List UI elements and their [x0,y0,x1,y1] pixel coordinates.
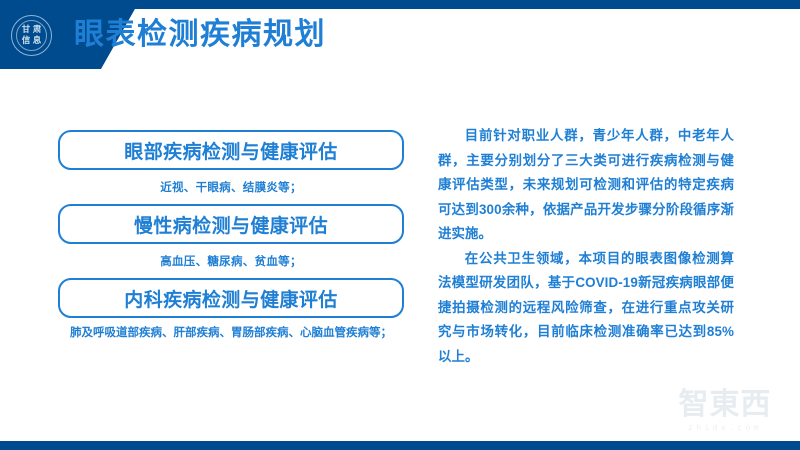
page-title: 眼表检测疾病规划 [74,17,326,53]
category-caption-chronic-disease: 高血压、糖尿病、贫血等； [58,253,404,269]
seal-inner-ring: 甘 肃 信 息 [16,20,47,51]
seal-glyph-grid: 甘 肃 信 息 [21,25,43,47]
category-box-chronic-disease: 慢性病检测与健康评估 [58,204,404,244]
description-paragraph-1: 目前针对职业人群，青少年人群，中老年人群，主要分别划分了三大类可进行疾病检测与健… [438,124,734,247]
category-box-label: 眼部疾病检测与健康评估 [124,137,337,164]
category-box-label: 内科疾病检测与健康评估 [124,285,337,312]
university-seal-logo: 甘 肃 信 息 [11,15,52,56]
seal-glyph-1: 甘 [21,25,32,36]
category-caption-eye-disease: 近视、干眼病、结膜炎等； [58,179,404,195]
slide-canvas: 甘 肃 信 息 眼表检测疾病规划 眼部疾病检测与健康评估 近视、干眼病、结膜炎等… [0,0,800,450]
category-box-label: 慢性病检测与健康评估 [134,211,328,238]
seal-glyph-2: 肃 [32,25,43,36]
watermark-url: zhidx.com [660,422,790,433]
footer-accent-bar [0,441,800,450]
watermark-logo-text: 智東西 [660,388,790,422]
category-box-internal-medicine: 内科疾病检测与健康评估 [58,278,404,318]
watermark: 智東西 zhidx.com [660,388,790,440]
category-box-eye-disease: 眼部疾病检测与健康评估 [58,130,404,170]
seal-glyph-3: 信 [21,36,32,47]
description-text-block: 目前针对职业人群，青少年人群，中老年人群，主要分别划分了三大类可进行疾病检测与健… [438,124,734,369]
disease-category-list: 眼部疾病检测与健康评估 近视、干眼病、结膜炎等； 慢性病检测与健康评估 高血压、… [58,130,404,340]
seal-glyph-4: 息 [32,36,43,47]
description-paragraph-2: 在公共卫生领域，本项目的眼表图像检测算法模型研发团队，基于COVID-19新冠疾… [438,247,734,370]
category-caption-internal-medicine: 肺及呼吸道部疾病、肝部疾病、胃肠部疾病、心脑血管疾病等； [58,324,404,340]
